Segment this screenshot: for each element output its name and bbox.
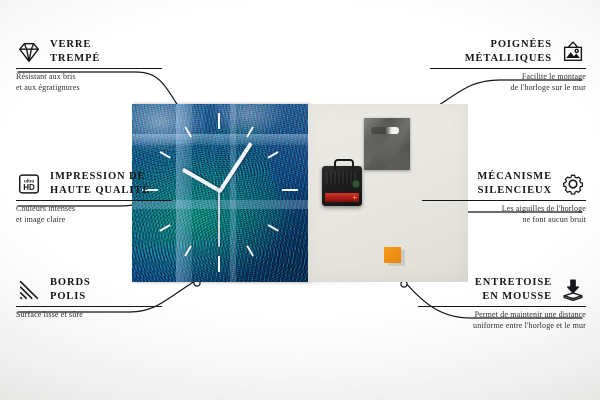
callout-entretoise-en-mousse[interactable]: ENTRETOISE EN MOUSSE Permet de maintenir… (414, 276, 586, 331)
callout-rule (430, 68, 586, 69)
battery: + (325, 193, 359, 202)
callout-rule (16, 68, 162, 69)
callout-rule (16, 306, 162, 307)
callout-verre-trempe[interactable]: VERRE TREMPÉ Résistant aux bris et aux é… (16, 38, 166, 93)
diamond-icon (16, 39, 42, 65)
callout-rule (422, 200, 586, 201)
svg-text:HD: HD (23, 183, 35, 192)
hanger-sheen (364, 118, 410, 170)
gear-icon (560, 171, 586, 197)
ultra-hd-icon: ultra HD (16, 171, 42, 197)
callout-subtitle: Les aiguilles de l'horloge ne font aucun… (418, 204, 586, 225)
callout-subtitle: Permet de maintenir une distance uniform… (414, 310, 586, 331)
foam-spacer-part (384, 247, 401, 263)
callout-title: MÉCANISME SILENCIEUX (477, 170, 552, 197)
callout-subtitle: Résistant aux bris et aux égratignures (16, 72, 166, 93)
callout-mecanisme-silencieux[interactable]: MÉCANISME SILENCIEUX Les aiguilles de l'… (418, 170, 586, 225)
callout-subtitle: Couleurs intenses et image claire (16, 204, 176, 225)
callout-title: VERRE TREMPÉ (50, 38, 100, 65)
mechanism-ridges (326, 172, 356, 184)
callout-header: BORDS POLIS (16, 276, 166, 303)
mechanism-hook (334, 159, 354, 170)
callout-subtitle: Surface lisse et sûre (16, 310, 166, 321)
polished-edge-lines-icon (16, 277, 42, 303)
callout-header: POIGNÉES MÉTALLIQUES (426, 38, 586, 65)
metal-hanger-part (364, 118, 410, 170)
mechanism-dial (353, 181, 359, 187)
callout-poignees-metalliques[interactable]: POIGNÉES MÉTALLIQUES Facilite le montage… (426, 38, 586, 93)
clock-mechanism-part: + (322, 166, 362, 206)
callout-title: IMPRESSION DE HAUTE QUALITÉ (50, 170, 150, 197)
infographic-canvas: + VERRE TREMPÉ Résistant aux bris et aux… (0, 0, 600, 400)
callout-rule (16, 200, 172, 201)
callout-title: POIGNÉES MÉTALLIQUES (465, 38, 552, 65)
callout-title: BORDS POLIS (50, 276, 91, 303)
callout-impression-haute-qualite[interactable]: ultra HD IMPRESSION DE HAUTE QUALITÉ Cou… (16, 170, 176, 225)
callout-rule (418, 306, 586, 307)
battery-plus-icon: + (352, 193, 357, 202)
down-arrow-foam-pad-icon (560, 277, 586, 303)
clock-second-hand (218, 189, 219, 247)
callout-header: MÉCANISME SILENCIEUX (418, 170, 586, 197)
hanging-picture-frame-icon (560, 39, 586, 65)
callout-header: ENTRETOISE EN MOUSSE (414, 276, 586, 303)
callout-header: VERRE TREMPÉ (16, 38, 166, 65)
callout-bords-polis[interactable]: BORDS POLIS Surface lisse et sûre (16, 276, 166, 321)
callout-title: ENTRETOISE EN MOUSSE (475, 276, 552, 303)
clock-center-hub (217, 188, 222, 193)
callout-subtitle: Facilite le montage de l'horloge sur le … (426, 72, 586, 93)
callout-header: ultra HD IMPRESSION DE HAUTE QUALITÉ (16, 170, 176, 197)
